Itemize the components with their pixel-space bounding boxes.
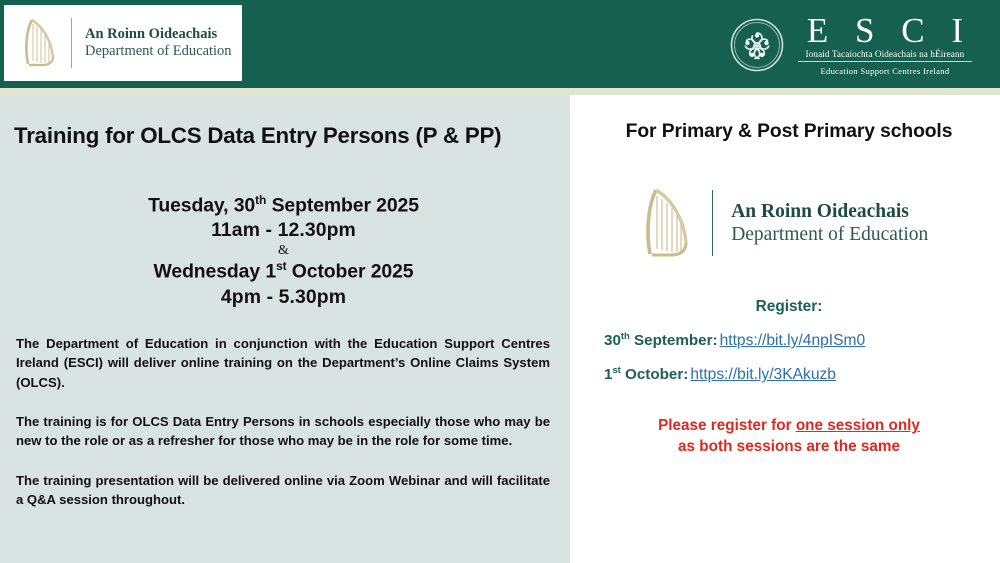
dept-irish-name: An Roinn Oideachais <box>85 26 232 43</box>
esci-english-name: Education Support Centres Ireland <box>798 66 972 76</box>
page-title: Training for OLCS Data Entry Persons (P … <box>11 123 556 149</box>
session-1-time: 11am - 12.30pm <box>11 219 556 242</box>
one-session-notice: Please register for one session only as … <box>578 416 1000 457</box>
register-heading: Register: <box>578 298 1000 316</box>
esci-irish-name: Ionaid Tacaíochta Oideachais na hÉireann <box>798 49 972 62</box>
header-accent-rule <box>0 88 1000 95</box>
dept-irish-name: An Roinn Oideachais <box>731 200 928 223</box>
description-paragraph-2: The training is for OLCS Data Entry Pers… <box>11 412 556 451</box>
irish-harp-icon <box>22 17 60 69</box>
register-link-october[interactable]: https://bit.ly/3KAkuzb <box>690 366 836 383</box>
esci-logo: E S C I Ionaid Tacaíochta Oideachais na … <box>729 12 972 78</box>
celtic-spiral-emblem-icon <box>729 17 785 73</box>
schedule-block: Tuesday, 30th September 2025 11am - 12.3… <box>11 193 556 309</box>
session-2-time: 4pm - 5.30pm <box>11 286 556 309</box>
notice-emphasis: one session only <box>796 417 920 434</box>
schedule-separator: & <box>11 243 556 259</box>
dept-english-name: Department of Education <box>85 43 232 60</box>
header-logo-text: An Roinn Oideachais Department of Educat… <box>85 26 232 60</box>
right-content-panel: For Primary & Post Primary schools An Ro… <box>578 95 1000 563</box>
logo-divider <box>712 190 714 256</box>
description-paragraph-1: The Department of Education in conjuncti… <box>11 334 556 392</box>
register-link-row-september: 30th September:https://bit.ly/4npISm0 <box>578 330 1000 350</box>
esci-acronym: E S C I <box>798 14 972 48</box>
dept-logo-text-large: An Roinn Oideachais Department of Educat… <box>731 200 928 247</box>
description-paragraph-3: The training presentation will be delive… <box>11 471 556 510</box>
session-1-date: Tuesday, 30th September 2025 <box>11 193 556 217</box>
left-content-panel: Training for OLCS Data Entry Persons (P … <box>0 95 570 563</box>
logo-divider <box>71 18 72 68</box>
notice-line-1: Please register for one session only <box>578 416 1000 436</box>
irish-harp-icon <box>642 186 696 260</box>
register-link-september[interactable]: https://bit.ly/4npISm0 <box>720 332 866 349</box>
register-link-row-october: 1st October:https://bit.ly/3KAkuzb <box>578 364 1000 384</box>
session-2-date: Wednesday 1st October 2025 <box>11 259 556 283</box>
dept-english-name: Department of Education <box>731 223 928 246</box>
esci-logo-text: E S C I Ionaid Tacaíochta Oideachais na … <box>798 14 972 76</box>
dept-of-education-logo-large: An Roinn Oideachais Department of Educat… <box>578 186 1000 260</box>
header-dept-of-education-logo: An Roinn Oideachais Department of Educat… <box>4 5 242 81</box>
notice-line-2: as both sessions are the same <box>578 437 1000 457</box>
audience-heading: For Primary & Post Primary schools <box>578 121 1000 143</box>
